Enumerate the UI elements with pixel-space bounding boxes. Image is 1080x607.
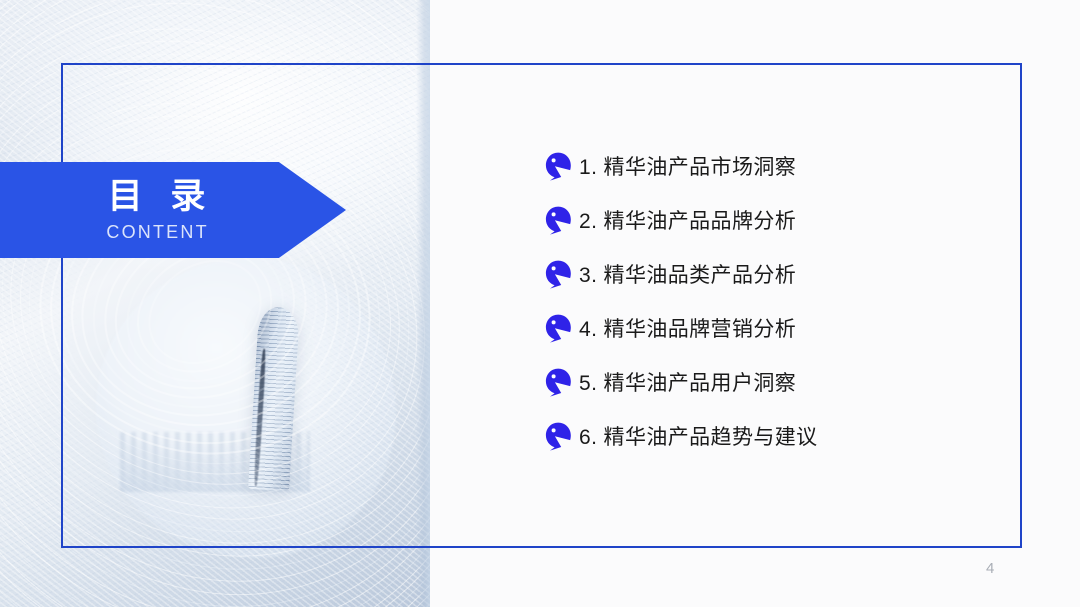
table-of-contents: 1. 精华油产品市场洞察2. 精华油产品品牌分析3. 精华油品类产品分析4. 精… (545, 139, 975, 463)
toc-item-label: 3. 精华油品类产品分析 (579, 259, 796, 289)
toc-item-3[interactable]: 3. 精华油品类产品分析 (545, 247, 975, 301)
toc-item-label: 5. 精华油产品用户洞察 (579, 367, 796, 397)
section-title-banner: 目 录 CONTENT (0, 162, 346, 258)
pacman-bullet-icon (545, 152, 571, 181)
toc-item-2[interactable]: 2. 精华油产品品牌分析 (545, 193, 975, 247)
pacman-bullet-icon (545, 260, 571, 289)
toc-item-1[interactable]: 1. 精华油产品市场洞察 (545, 139, 975, 193)
pacman-bullet-icon (545, 368, 571, 397)
photo-right-edge (416, 0, 430, 607)
page-title: 目 录 (0, 179, 313, 216)
toc-item-4[interactable]: 4. 精华油品牌营销分析 (545, 301, 975, 355)
page-subtitle: CONTENT (0, 222, 313, 243)
page-number: 4 (986, 560, 994, 577)
photo-weave-texture (0, 0, 430, 607)
slide-canvas: 目 录 CONTENT 1. 精华油产品市场洞察2. 精华油产品品牌分析3. 精… (0, 0, 1080, 607)
toc-item-label: 2. 精华油产品品牌分析 (579, 205, 796, 235)
spiral-lattice-skyscraper-photo (0, 0, 430, 607)
pacman-bullet-icon (545, 314, 571, 343)
toc-item-5[interactable]: 5. 精华油产品用户洞察 (545, 355, 975, 409)
pacman-bullet-icon (545, 422, 571, 451)
toc-item-6[interactable]: 6. 精华油产品趋势与建议 (545, 409, 975, 463)
toc-item-label: 6. 精华油产品趋势与建议 (579, 421, 818, 451)
toc-item-label: 4. 精华油品牌营销分析 (579, 313, 796, 343)
toc-item-label: 1. 精华油产品市场洞察 (579, 151, 796, 181)
pacman-bullet-icon (545, 206, 571, 235)
